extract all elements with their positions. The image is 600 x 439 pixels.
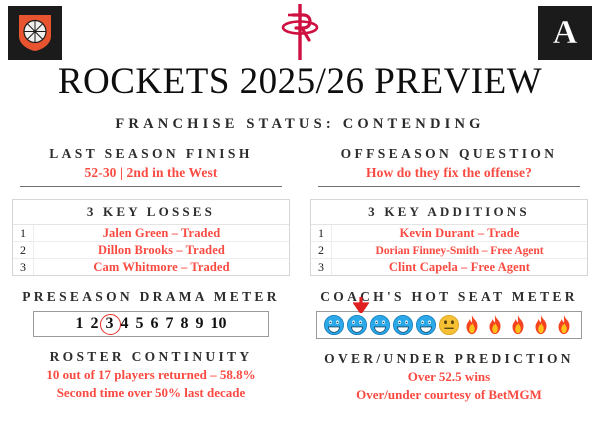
fire-icon[interactable] [530, 314, 552, 336]
over-under-line1: Over 52.5 wins [310, 369, 588, 385]
page-title: ROCKETS 2025/26 PREVIEW [0, 62, 600, 102]
cold-face-icon[interactable] [415, 314, 437, 336]
row-text: Dillon Brooks – Traded [34, 243, 289, 258]
drama-meter-heading: PRESEASON DRAMA METER [12, 289, 290, 305]
cold-face-icon[interactable] [392, 314, 414, 336]
fire-icon[interactable] [507, 314, 529, 336]
drama-meter-scale: 12345678910 [76, 315, 227, 333]
table-row: 1 Jalen Green – Traded [13, 225, 289, 242]
drama-scale-number[interactable]: 8 [181, 315, 189, 333]
row-number: 2 [13, 242, 34, 258]
cold-face-icon[interactable] [346, 314, 368, 336]
houston-rockets-logo [272, 2, 328, 62]
row-number: 3 [13, 259, 34, 275]
table-row: 1 Kevin Durant – Trade [311, 225, 587, 242]
drama-meter-box: 12345678910 [33, 311, 269, 337]
row-number: 1 [311, 225, 332, 241]
left-column: LAST SEASON FINISH 52-30 | 2nd in the We… [0, 146, 300, 403]
fire-icon[interactable] [461, 314, 483, 336]
roster-continuity-heading: ROSTER CONTINUITY [12, 349, 290, 365]
right-column: OFFSEASON QUESTION How do they fix the o… [300, 146, 600, 403]
row-number: 3 [311, 259, 332, 275]
shield-icon [18, 14, 52, 52]
row-number: 1 [13, 225, 34, 241]
over-under-line2: Over/under courtesy of BetMGM [310, 387, 588, 403]
offseason-question-value: How do they fix the offense? [310, 165, 588, 181]
drama-scale-number[interactable]: 4 [121, 315, 129, 333]
divider-rule-right [318, 186, 579, 187]
drama-scale-number[interactable]: 7 [166, 315, 174, 333]
cold-face-icon[interactable] [369, 314, 391, 336]
the-athletic-logo: A [538, 6, 592, 60]
basketball-shield-icon [8, 6, 62, 60]
table-row: 3 Cam Whitmore – Traded [13, 259, 289, 275]
franchise-status: FRANCHISE STATUS: CONTENDING [0, 116, 600, 133]
preview-graphic: A ROCKETS 2025/26 PREVIEW FRANCHISE STAT… [0, 0, 600, 439]
drama-scale-number[interactable]: 9 [196, 315, 204, 333]
header: A [0, 0, 600, 64]
fire-icon[interactable] [484, 314, 506, 336]
cold-face-icon[interactable] [323, 314, 345, 336]
drama-scale-number[interactable]: 1 [76, 315, 84, 333]
row-text: Clint Capela – Free Agent [332, 260, 587, 275]
row-text: Cam Whitmore – Traded [34, 260, 289, 275]
row-text: Kevin Durant – Trade [332, 226, 587, 241]
offseason-question-heading: OFFSEASON QUESTION [310, 146, 588, 162]
hot-seat-meter-heading: COACH'S HOT SEAT METER [310, 289, 588, 305]
drama-scale-number[interactable]: 3 [106, 315, 114, 333]
row-text: Dorian Finney-Smith – Free Agent [332, 244, 587, 257]
table-row: 3 Clint Capela – Free Agent [311, 259, 587, 275]
over-under-heading: OVER/UNDER PREDICTION [310, 351, 588, 367]
drama-scale-number[interactable]: 6 [151, 315, 159, 333]
row-text: Jalen Green – Traded [34, 226, 289, 241]
athletic-a-letter: A [553, 16, 578, 50]
drama-scale-number[interactable]: 5 [136, 315, 144, 333]
key-additions-heading: 3 KEY ADDITIONS [311, 200, 587, 225]
roster-continuity-line1: 10 out of 17 players returned – 58.8% [12, 367, 290, 383]
key-additions-box: 3 KEY ADDITIONS 1 Kevin Durant – Trade 2… [310, 199, 588, 276]
neutral-face-icon[interactable] [438, 314, 460, 336]
row-number: 2 [311, 242, 332, 258]
fire-icon[interactable] [553, 314, 575, 336]
key-losses-box: 3 KEY LOSSES 1 Jalen Green – Traded 2 Di… [12, 199, 290, 276]
divider-rule-left [20, 186, 281, 187]
hot-seat-meter-box [316, 311, 582, 339]
drama-scale-number[interactable]: 10 [211, 315, 227, 333]
last-season-value: 52-30 | 2nd in the West [12, 165, 290, 181]
columns: LAST SEASON FINISH 52-30 | 2nd in the We… [0, 146, 600, 403]
drama-scale-number[interactable]: 2 [91, 315, 99, 333]
table-row: 2 Dorian Finney-Smith – Free Agent [311, 242, 587, 259]
last-season-heading: LAST SEASON FINISH [12, 146, 290, 162]
roster-continuity-line2: Second time over 50% last decade [12, 385, 290, 401]
table-row: 2 Dillon Brooks – Traded [13, 242, 289, 259]
hot-seat-emoji-row [323, 314, 575, 336]
key-losses-heading: 3 KEY LOSSES [13, 200, 289, 225]
